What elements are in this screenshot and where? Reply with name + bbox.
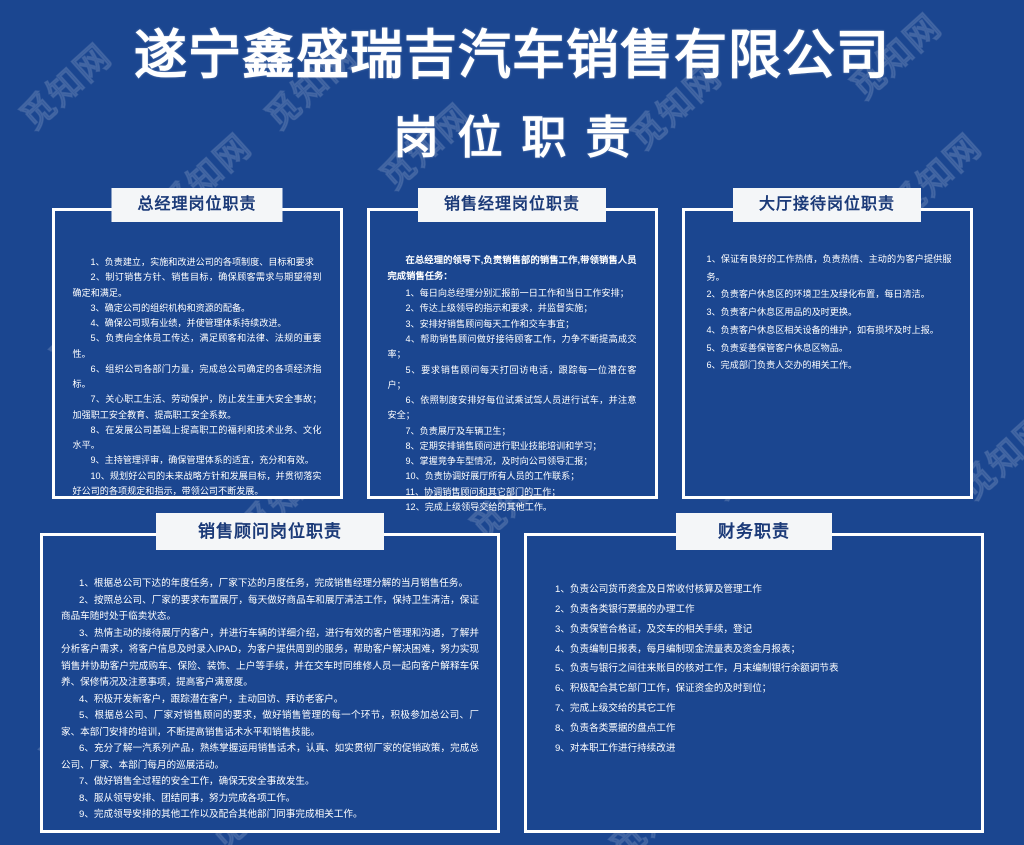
panel-general-manager: 总经理岗位职责 1、负责建立，实施和改进公司的各项制度、目标和要求2、制订销售方… [52,208,343,499]
panel-line: 4、确保公司现有业绩，并使管理体系持续改进。 [73,316,322,331]
panel-line: 3、确定公司的组织机构和资源的配备。 [73,301,322,316]
panel-body-sales-consultant: 1、根据总公司下达的年度任务，厂家下达的月度任务，完成销售经理分解的当月销售任务… [55,570,485,824]
panel-line: 7、做好销售全过程的安全工作，确保无安全事故发生。 [61,774,479,791]
panel-line: 4、负责客户休息区相关设备的维护，如有损坏及时上报。 [703,322,952,340]
panel-line: 3、负责保管合格证，及交车的相关手续，登记 [555,620,963,640]
panel-line: 9、对本职工作进行持续改进 [555,739,963,759]
panel-line: 9、主持管理评审，确保管理体系的适宜，充分和有效。 [73,453,322,468]
panel-line: 5、负责与银行之间往来账目的核对工作，月末编制银行余额调节表 [555,659,963,679]
panel-line: 5、负责向全体员工传达，满足顾客和法律、法规的重要性。 [73,331,322,362]
panel-body-finance: 1、负责公司货币资金及日常收付核算及管理工作2、负责各类银行票据的办理工作3、负… [539,570,969,759]
panel-line: 1、每日向总经理分别汇报前一日工作和当日工作安排； [388,286,637,301]
panel-line: 9、完成领导安排的其他工作以及配合其他部门同事完成相关工作。 [61,807,479,824]
panel-line: 7、完成上级交给的其它工作 [555,699,963,719]
panel-line: 1、保证有良好的工作热情，负责热情、主动的为客户提供服务。 [703,251,952,286]
panel-line: 4、负责编制日报表，每月编制现金流量表及资金月报表； [555,640,963,660]
panel-line: 2、负责各类银行票据的办理工作 [555,600,963,620]
panel-line: 9、掌握竞争车型情况，及时向公司领导汇报； [388,454,637,469]
panel-row-bottom: 销售顾问岗位职责 1、根据总公司下达的年度任务，厂家下达的月度任务，完成销售经理… [0,533,1024,833]
panel-line: 3、热情主动的接待展厅内客户，并进行车辆的详细介绍，进行有效的客户管理和沟通，了… [61,626,479,692]
panel-line: 3、安排好销售顾问每天工作和交车事宜； [388,317,637,332]
panel-line: 6、充分了解一汽系列产品，熟练掌握运用销售话术，认真、如实贯彻厂家的促销政策，完… [61,741,479,774]
panel-line: 10、负责协调好展厅所有人员的工作联系； [388,469,637,484]
panel-row-top: 总经理岗位职责 1、负责建立，实施和改进公司的各项制度、目标和要求2、制订销售方… [0,208,1024,500]
panel-body-general-manager: 1、负责建立，实施和改进公司的各项制度、目标和要求2、制订销售方针、销售目标，确… [67,245,328,499]
panel-line: 11、协调销售顾问和其它部门的工作； [388,485,637,500]
panel-line: 5、负责妥善保管客户休息区物品。 [703,340,952,358]
panel-sales-manager: 销售经理岗位职责 在总经理的领导下,负责销售部的销售工作,带领销售人员完成销售任… [367,208,658,499]
panel-title-sales-manager: 销售经理岗位职责 [418,188,606,222]
panel-line: 8、负责各类票据的盘点工作 [555,719,963,739]
panel-line: 3、负责客户休息区用品的及时更换。 [703,304,952,322]
panel-line: 2、负责客户休息区的环境卫生及绿化布置，每日清洁。 [703,286,952,304]
panel-title-general-manager: 总经理岗位职责 [111,188,282,222]
panel-line: 8、定期安排销售顾问进行职业技能培训和学习； [388,439,637,454]
panel-body-lobby-reception: 1、保证有良好的工作热情，负责热情、主动的为客户提供服务。2、负责客户休息区的环… [697,245,958,375]
panel-lobby-reception: 大厅接待岗位职责 1、保证有良好的工作热情，负责热情、主动的为客户提供服务。2、… [682,208,973,499]
panel-line: 5、要求销售顾问每天打回访电话，跟踪每一位潜在客户； [388,363,637,394]
company-title: 遂宁鑫盛瑞吉汽车销售有限公司 [0,0,1024,85]
panel-line: 6、积极配合其它部门工作，保证资金的及时到位； [555,679,963,699]
panel-title-sales-consultant: 销售顾问岗位职责 [156,513,384,550]
panel-line: 12、完成上级领导交给的其他工作。 [388,500,637,515]
panel-line: 6、组织公司各部门力量，完成总公司确定的各项经济指标。 [73,362,322,393]
panel-title-lobby-reception: 大厅接待岗位职责 [733,188,921,222]
panel-body-sales-manager: 在总经理的领导下,负责销售部的销售工作,带领销售人员完成销售任务：1、每日向总经… [382,245,643,515]
panel-line: 4、积极开发新客户，跟踪潜在客户，主动回访、拜访老客户。 [61,692,479,709]
panel-intro: 在总经理的领导下,负责销售部的销售工作,带领销售人员完成销售任务： [388,253,637,284]
panel-finance: 财务职责 1、负责公司货币资金及日常收付核算及管理工作2、负责各类银行票据的办理… [524,533,984,833]
panel-line: 1、根据总公司下达的年度任务，厂家下达的月度任务，完成销售经理分解的当月销售任务… [61,576,479,593]
panel-line: 7、负责展厅及车辆卫生； [388,424,637,439]
panel-line: 4、帮助销售顾问做好接待顾客工作，力争不断提高成交率； [388,332,637,363]
panels-area: 总经理岗位职责 1、负责建立，实施和改进公司的各项制度、目标和要求2、制订销售方… [0,208,1024,833]
panel-line: 2、按照总公司、厂家的要求布置展厅，每天做好商品车和展厅清洁工作，保持卫生清洁，… [61,593,479,626]
panel-line: 5、根据总公司、厂家对销售顾问的要求，做好销售管理的每一个环节，积极参加总公司、… [61,708,479,741]
panel-line: 1、负责建立，实施和改进公司的各项制度、目标和要求 [73,255,322,270]
panel-line: 8、服从领导安排、团结同事，努力完成各项工作。 [61,791,479,808]
panel-line: 8、在发展公司基础上提高职工的福利和技术业务、文化水平。 [73,423,322,454]
panel-line: 6、完成部门负责人交办的相关工作。 [703,357,952,375]
panel-line: 1、负责公司货币资金及日常收付核算及管理工作 [555,580,963,600]
poster-header: 遂宁鑫盛瑞吉汽车销售有限公司 岗位职责 [0,0,1024,166]
panel-line: 10、规划好公司的未来战略方针和发展目标，并贯彻落实好公司的各项规定和指示，带领… [73,469,322,500]
panel-line: 2、传达上级领导的指示和要求，并监督实施； [388,301,637,316]
panel-sales-consultant: 销售顾问岗位职责 1、根据总公司下达的年度任务，厂家下达的月度任务，完成销售经理… [40,533,500,833]
panel-title-finance: 财务职责 [676,513,832,550]
poster-subtitle: 岗位职责 [0,85,1024,166]
panel-line: 6、依照制度安排好每位试乘试驾人员进行试车，并注意安全； [388,393,637,424]
panel-line: 7、关心职工生活、劳动保护，防止发生重大安全事故；加强职工安全教育、提高职工安全… [73,392,322,423]
panel-line: 2、制订销售方针、销售目标，确保顾客需求与期望得到确定和满足。 [73,270,322,301]
